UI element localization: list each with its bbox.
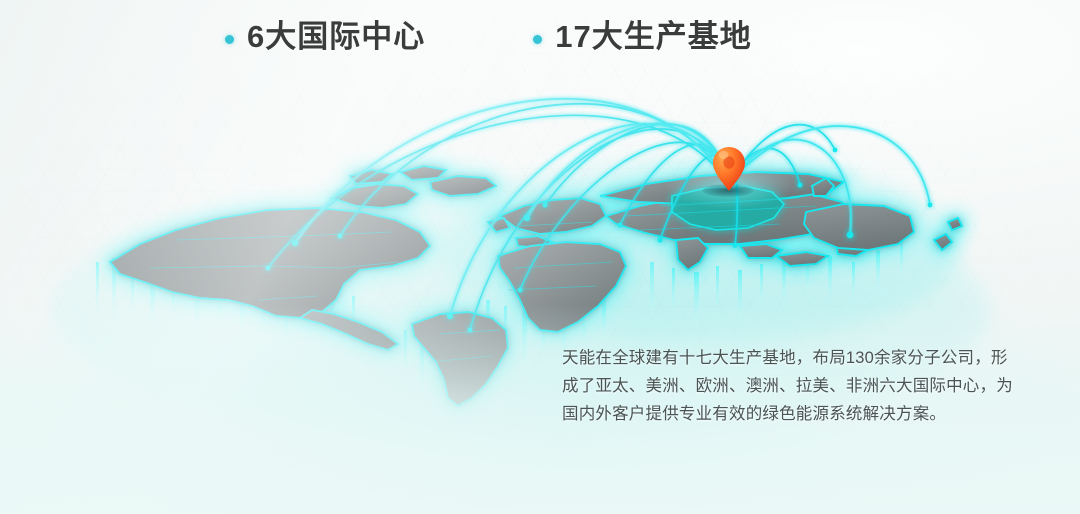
world-map-graphic bbox=[0, 0, 1080, 514]
description-paragraph: 天能在全球建有十七大生产基地，布局130余家分子公司，形成了亚太、美洲、欧洲、澳… bbox=[562, 344, 1014, 428]
bullet-dot-icon bbox=[533, 35, 542, 44]
heading-production-bases-label: 17大生产基地 bbox=[555, 20, 751, 54]
bullet-dot-icon bbox=[225, 35, 234, 44]
heading-production-bases: 17大生产基地 bbox=[533, 20, 751, 54]
heading-international-centers-label: 6大国际中心 bbox=[247, 20, 425, 54]
heading-international-centers: 6大国际中心 bbox=[225, 20, 425, 54]
global-footprint-banner: 6大国际中心 17大生产基地 天能在全球建有十七大生产基地，布局130余家分子公… bbox=[0, 0, 1080, 514]
map-marker-china[interactable] bbox=[711, 146, 747, 198]
headings-row: 6大国际中心 17大生产基地 bbox=[0, 20, 1080, 54]
map-pin-icon bbox=[711, 146, 747, 192]
